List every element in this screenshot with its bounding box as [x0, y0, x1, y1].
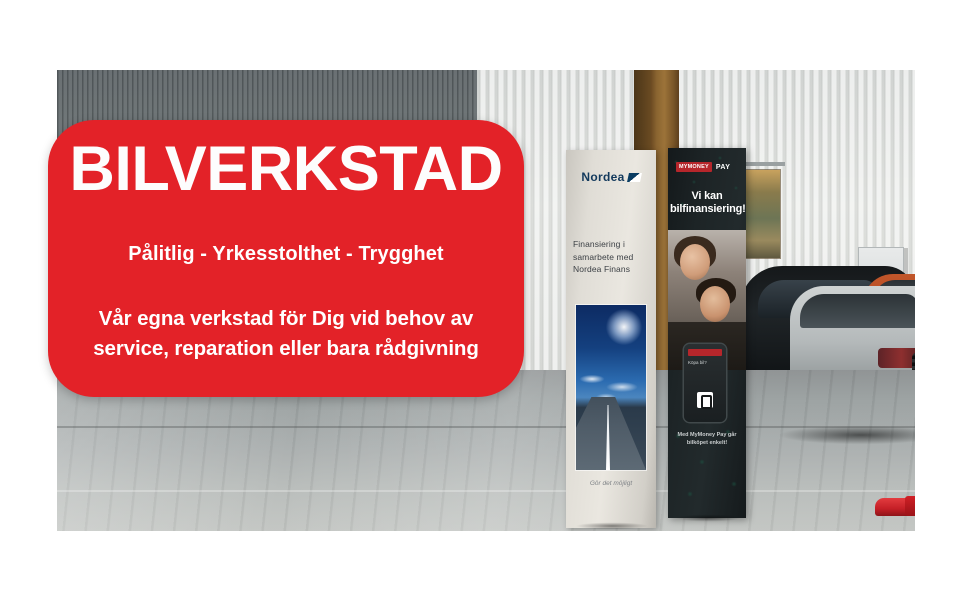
car-window: [800, 294, 915, 328]
banner-tagline: Pålitlig - Yrkesstolthet - Trygghet: [48, 241, 524, 267]
pay-label: PAY: [716, 162, 730, 173]
bankid-icon: [697, 392, 713, 408]
rollup-base-shadow: [562, 522, 662, 531]
nordea-sail-icon: [627, 173, 642, 182]
page-canvas: Nordea Finansiering i samarbete med Nord…: [0, 0, 972, 605]
phone-app-label: Köpa bil?: [688, 360, 722, 366]
nordea-logo: Nordea: [566, 170, 656, 184]
rollup-banner-mymoney-pay: MYMONEY PAY Vi kan bilfinansiering! Köpa…: [668, 148, 746, 518]
pay-headline: Vi kan bilfinansiering!: [670, 190, 744, 216]
mymoney-pay-logo: MYMONEY PAY: [676, 162, 738, 174]
nordea-slogan: Gör det möjligt: [566, 480, 656, 487]
banner-body: Vår egna verkstad för Dig vid behov av s…: [72, 304, 500, 364]
phone-app-header: [688, 349, 722, 356]
red-floor-object: [905, 496, 915, 516]
road-shape: [576, 397, 646, 470]
mymoney-badge: MYMONEY: [676, 162, 712, 172]
bilverkstad-banner: BILVERKSTAD Pålitlig - Yrkesstolthet - T…: [48, 120, 524, 397]
rollup-base-shadow: [663, 514, 753, 523]
nordea-headline: Finansiering i samarbete med Nordea Fina…: [573, 238, 649, 276]
nordea-logo-text: Nordea: [581, 170, 624, 184]
nordea-road-image: [576, 305, 646, 470]
banner-title: BILVERKSTAD: [48, 134, 524, 204]
car-shadow: [747, 422, 915, 448]
banner-body-line-2: service, reparation eller bara rådgivnin…: [72, 334, 500, 364]
pay-footer-text: Med MyMoney Pay går bilköpet enkelt!: [672, 432, 742, 447]
person-face: [680, 244, 710, 280]
person-face: [700, 286, 730, 322]
phone-mockup: Köpa bil?: [684, 344, 726, 422]
floor-seam: [57, 490, 915, 492]
rollup-banner-nordea: Nordea Finansiering i samarbete med Nord…: [566, 150, 656, 528]
banner-body-line-1: Vår egna verkstad för Dig vid behov av: [72, 304, 500, 334]
tail-light: [878, 348, 915, 368]
